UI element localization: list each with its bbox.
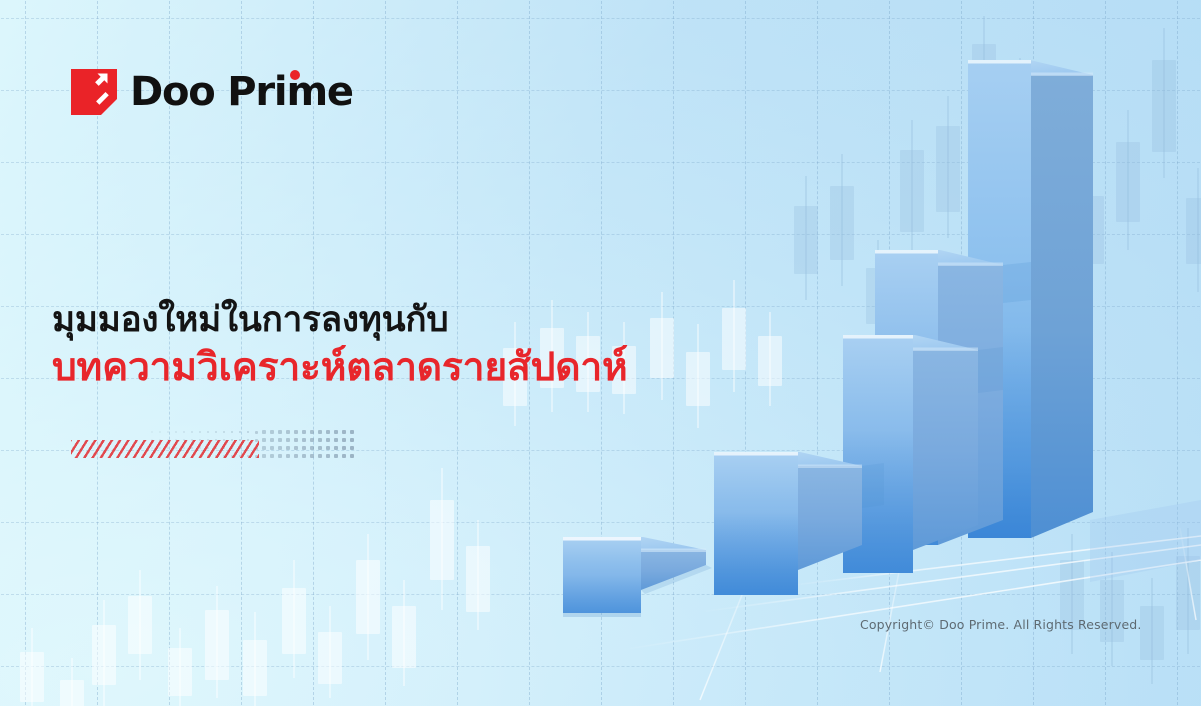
decorative-dot	[318, 454, 322, 458]
decorative-dot	[342, 438, 347, 443]
brand-i-dot-icon	[290, 70, 300, 80]
decorative-dot	[262, 430, 265, 433]
decorative-dot	[326, 430, 330, 434]
decorative-dot	[247, 431, 250, 434]
decorative-dot	[278, 430, 282, 434]
decorative-dot	[270, 446, 273, 449]
decorative-dot	[223, 431, 226, 434]
headline-line-1: มุมมองใหม่ในการลงทุนกับ	[52, 300, 628, 341]
decorative-stripe-bar	[71, 440, 259, 458]
doo-prime-mark-icon	[71, 69, 117, 115]
decorative-dot	[294, 454, 298, 458]
decorative-dot	[199, 431, 201, 433]
decorative-dot	[183, 431, 185, 433]
decorative-dot	[326, 454, 330, 458]
decorative-dot	[270, 454, 273, 457]
decorative-dot	[334, 438, 339, 443]
decorative-dot	[302, 438, 306, 442]
decorative-dot	[191, 431, 193, 433]
decorative-dot	[286, 446, 290, 450]
decorative-dot	[239, 431, 242, 434]
decorative-dot	[342, 430, 347, 435]
brand-name-text: Doo Prime	[130, 69, 353, 115]
decorative-dot	[231, 431, 234, 434]
decorative-dot	[255, 431, 258, 434]
decorative-dot	[350, 438, 355, 443]
decorative-dot	[310, 430, 314, 434]
decorative-dot	[310, 454, 314, 458]
decorative-dot	[350, 430, 355, 435]
decorative-dot	[167, 431, 168, 432]
decorative-dot	[262, 446, 265, 449]
decorative-dot	[286, 430, 290, 434]
decorative-dot	[302, 446, 306, 450]
decorative-dot	[350, 454, 355, 459]
decorative-dot	[342, 454, 347, 459]
decorative-dot	[302, 454, 306, 458]
decorative-dot	[262, 438, 265, 441]
decorative-dot	[278, 438, 282, 442]
decorative-dot	[278, 446, 282, 450]
copyright-text: Copyright© Doo Prime. All Rights Reserve…	[860, 617, 1142, 632]
promo-banner: Doo Prime มุมมองใหม่ในการลงทุนกับ บทความ…	[0, 0, 1201, 706]
decorative-dot	[270, 430, 273, 433]
decorative-dot	[318, 430, 322, 434]
brand-logo[interactable]: Doo Prime	[71, 69, 353, 115]
decorative-dot	[334, 454, 339, 459]
decorative-dot	[286, 454, 290, 458]
decorative-dot	[310, 438, 314, 442]
decorative-dot	[318, 438, 322, 442]
decorative-dot	[342, 446, 347, 451]
decorative-dot	[215, 431, 217, 433]
headline-block: มุมมองใหม่ในการลงทุนกับ บทความวิเคราะห์ต…	[52, 300, 628, 391]
brand-name: Doo Prime	[130, 72, 353, 112]
decorative-dot	[270, 438, 273, 441]
decorative-dot	[294, 430, 298, 434]
decorative-dot	[302, 430, 306, 434]
decorative-dot	[278, 454, 282, 458]
decorative-dot	[350, 446, 355, 451]
decorative-dot	[294, 446, 298, 450]
decorative-dot	[326, 438, 330, 442]
decorative-dot	[294, 438, 298, 442]
decorative-dot	[334, 430, 339, 435]
decorative-dot	[310, 446, 314, 450]
decorative-dot	[159, 431, 160, 432]
decorative-dot	[175, 431, 177, 433]
decorative-dot	[326, 446, 330, 450]
decorative-dot	[262, 454, 265, 457]
decorative-dot	[318, 446, 322, 450]
decorative-dot	[207, 431, 209, 433]
decorative-dot	[151, 431, 152, 432]
decorative-dot	[334, 446, 339, 451]
headline-line-2: บทความวิเคราะห์ตลาดรายสัปดาห์	[52, 345, 628, 391]
decorative-dot	[286, 438, 290, 442]
